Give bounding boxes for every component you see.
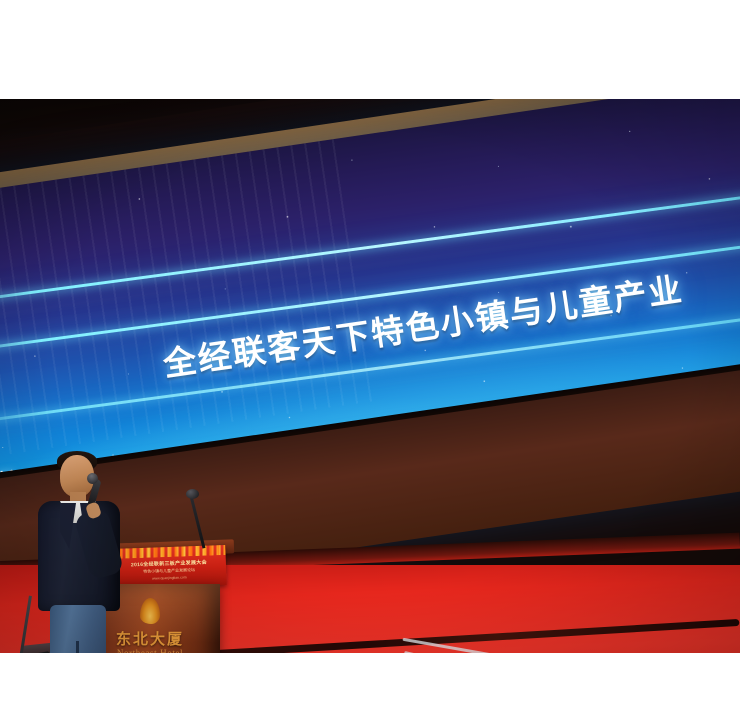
stage-photograph: 全经联客天下特色小镇与儿童产业 中新 全经联客天下特色小镇孵化器代表 201 <box>0 0 740 726</box>
presenter-at-podium <box>24 455 134 657</box>
letterbox-top <box>0 0 740 99</box>
letterbox-bottom <box>0 653 740 726</box>
flame-logo-icon <box>140 598 160 624</box>
podium-microphone-head <box>186 489 199 499</box>
venue-scene: 全经联客天下特色小镇与儿童产业 中新 全经联客天下特色小镇孵化器代表 201 <box>0 95 740 657</box>
